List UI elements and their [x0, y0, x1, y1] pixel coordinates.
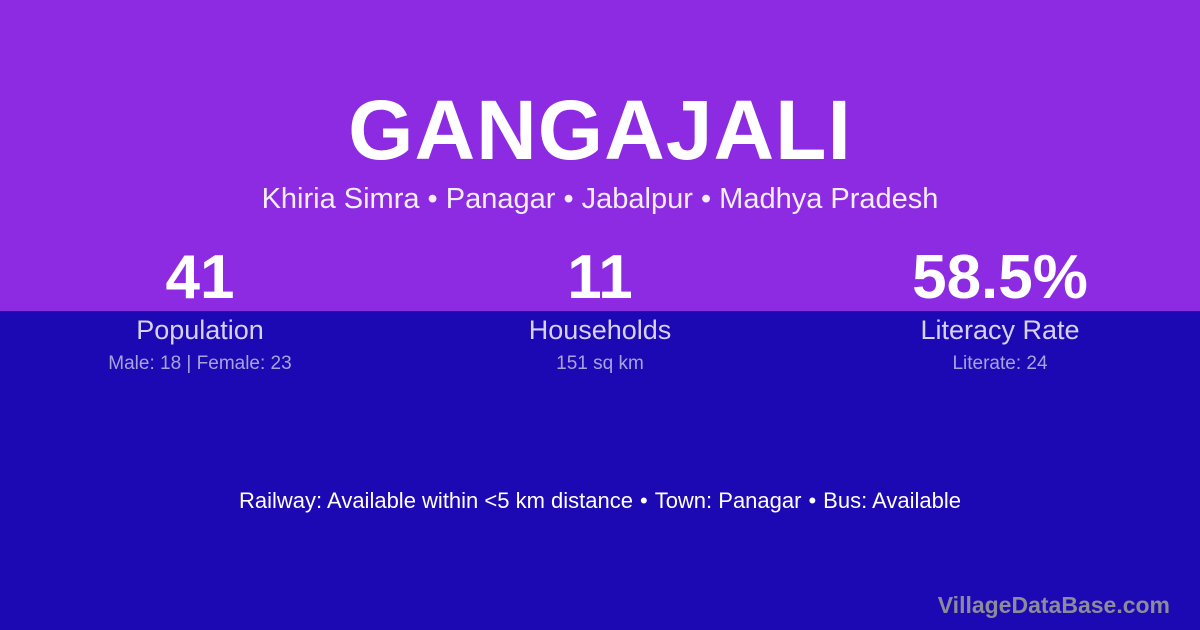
amenity-railway: Railway: Available within <5 km distance — [239, 488, 633, 513]
amenity-separator-1: • — [633, 488, 655, 513]
amenity-town: Town: Panagar — [655, 488, 802, 513]
stat-literacy-value: 58.5% — [800, 246, 1200, 310]
stat-literacy: 58.5% Literacy Rate Literate: 24 — [800, 246, 1200, 376]
site-branding: VillageDataBase.com — [938, 591, 1170, 619]
stat-literacy-sub: Literate: 24 — [800, 352, 1200, 376]
stat-households-value: 11 — [400, 246, 800, 310]
location-breadcrumb: Khiria Simra • Panagar • Jabalpur • Madh… — [0, 181, 1200, 217]
stat-population: 41 Population Male: 18 | Female: 23 — [0, 246, 400, 376]
stat-households: 11 Households 151 sq km — [400, 246, 800, 376]
stat-population-value: 41 — [0, 246, 400, 310]
amenity-bus: Bus: Available — [823, 488, 961, 513]
stat-households-label: Households — [400, 314, 800, 346]
stat-households-sub: 151 sq km — [400, 352, 800, 376]
stat-population-label: Population — [0, 314, 400, 346]
stats-row: 41 Population Male: 18 | Female: 23 11 H… — [0, 246, 1200, 376]
stat-population-sub: Male: 18 | Female: 23 — [0, 352, 400, 376]
stat-literacy-label: Literacy Rate — [800, 314, 1200, 346]
village-info-card: GANGAJALI Khiria Simra • Panagar • Jabal… — [0, 0, 1200, 630]
page-title: GANGAJALI — [0, 84, 1200, 176]
amenities-line: Railway: Available within <5 km distance… — [0, 486, 1200, 516]
amenity-separator-2: • — [801, 488, 823, 513]
